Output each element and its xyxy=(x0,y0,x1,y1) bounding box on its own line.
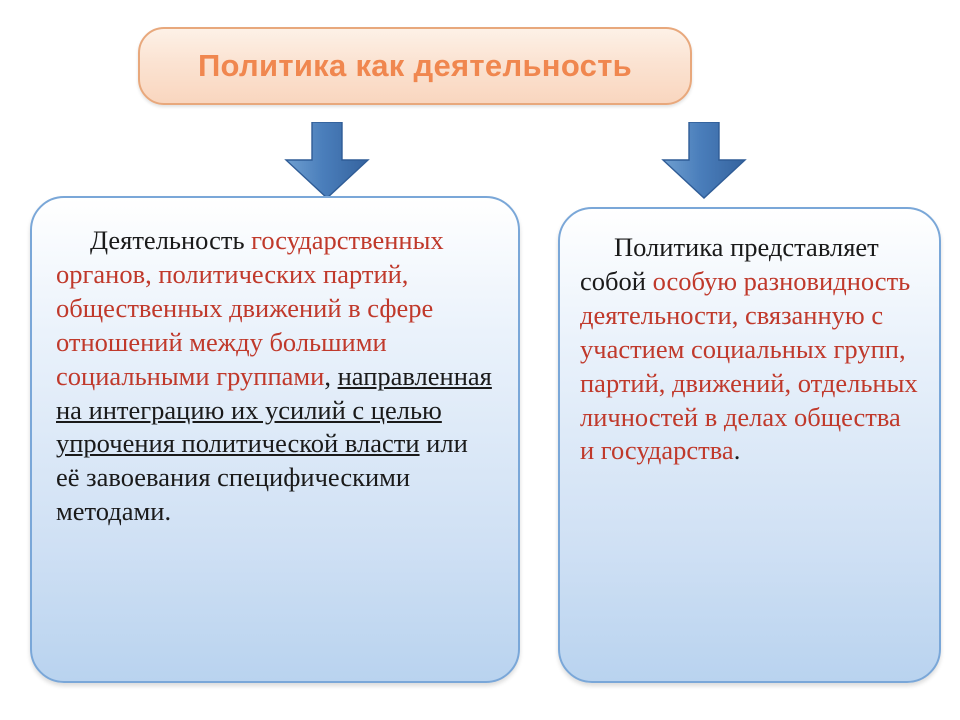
definition-text-right: Политика представляет собой особую разно… xyxy=(560,209,939,468)
text-segment: , xyxy=(324,361,337,391)
definition-box-right: Политика представляет собой особую разно… xyxy=(558,207,941,683)
definition-text-left: Деятельность государственных органов, по… xyxy=(32,198,518,529)
arrow-down-right-icon xyxy=(661,122,747,200)
text-segment: Деятельность xyxy=(90,225,251,255)
page-title: Политика как деятельность xyxy=(198,48,632,84)
title-banner: Политика как деятельность xyxy=(138,27,692,105)
definition-box-left: Деятельность государственных органов, по… xyxy=(30,196,520,683)
arrow-down-left-icon xyxy=(284,122,370,200)
text-segment: . xyxy=(734,435,741,465)
